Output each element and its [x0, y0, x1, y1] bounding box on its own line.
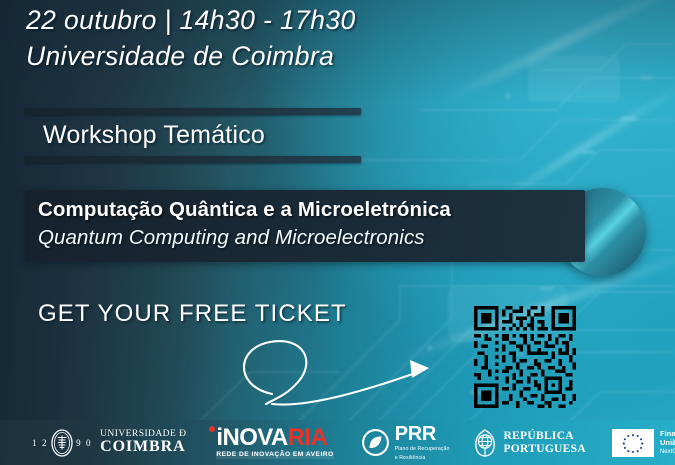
cta-label: GET YOUR FREE TICKET	[38, 300, 347, 328]
eu-line2: União Europeia	[660, 438, 675, 447]
prr-wordmark: PRR Plano de Recuperação e Resiliência	[395, 424, 450, 461]
logo-republica-portuguesa: REPÚBLICA PORTUGUESA	[473, 429, 585, 457]
poster-header: 22 outubro | 14h30 - 17h30 Universidade …	[26, 2, 566, 74]
republica-wordmark: REPÚBLICA PORTUGUESA	[503, 430, 585, 454]
logo-prr: PRR Plano de Recuperação e Resiliência	[362, 424, 450, 461]
coimbra-year-right: 9 0	[76, 438, 92, 448]
logo-european-union: Financiado pela União Europeia NextGener…	[612, 429, 675, 457]
workshop-rule-top	[25, 108, 361, 115]
logo-inovaria: iNOVARIA REDE DE INOVAÇÃO EM AVEIRO	[216, 426, 333, 459]
red-dot-icon	[209, 426, 215, 432]
coimbra-line2: COIMBRA	[100, 439, 186, 455]
eu-line3: NextGenerationEU	[660, 449, 675, 457]
prr-subtitle-1: Plano de Recuperação	[395, 446, 450, 453]
event-poster: 22 outubro | 14h30 - 17h30 Universidade …	[0, 0, 675, 465]
inovaria-part2: NOVA	[222, 424, 287, 451]
title-portuguese: Computação Quântica e a Microeletrónica	[38, 198, 451, 222]
inovaria-part3: RIA	[288, 424, 328, 451]
prr-emblem-icon	[362, 429, 389, 456]
workshop-label: Workshop Temático	[25, 115, 361, 156]
logo-universidade-coimbra: 1 2 9 0 UNIVERSIDADE Ð COIMBRA	[32, 429, 186, 457]
event-date-time: 22 outubro | 14h30 - 17h30	[26, 2, 566, 38]
eu-flag-icon	[612, 429, 654, 457]
republica-line1: REPÚBLICA	[503, 430, 585, 442]
prr-subtitle-2: e Resiliência	[395, 455, 450, 462]
coimbra-wordmark: UNIVERSIDADE Ð COIMBRA	[100, 430, 186, 456]
prr-name: PRR	[395, 424, 450, 444]
university-seal-icon	[50, 429, 74, 457]
workshop-band: Workshop Temático	[25, 108, 361, 163]
event-venue: Universidade de Coimbra	[26, 38, 566, 74]
republica-line2: PORTUGUESA	[503, 443, 585, 455]
inovaria-tagline: REDE DE INOVAÇÃO EM AVEIRO	[216, 452, 333, 459]
inovaria-wordmark: iNOVARIA REDE DE INOVAÇÃO EM AVEIRO	[216, 426, 333, 459]
curved-arrow-icon	[228, 326, 468, 406]
workshop-rule-bottom	[25, 156, 361, 163]
inovaria-main: iNOVARIA	[216, 426, 333, 450]
qr-code-icon[interactable]	[474, 305, 576, 409]
coimbra-year-left: 1 2	[32, 438, 48, 448]
eu-wordmark: Financiado pela União Europeia NextGener…	[660, 429, 675, 456]
armillary-sphere-icon	[473, 429, 497, 457]
eu-line1: Financiado pela	[660, 429, 675, 438]
title-english: Quantum Computing and Microelectronics	[38, 226, 425, 250]
sponsor-logo-bar: 1 2 9 0 UNIVERSIDADE Ð COIMBRA iNOVARIA …	[0, 420, 675, 465]
